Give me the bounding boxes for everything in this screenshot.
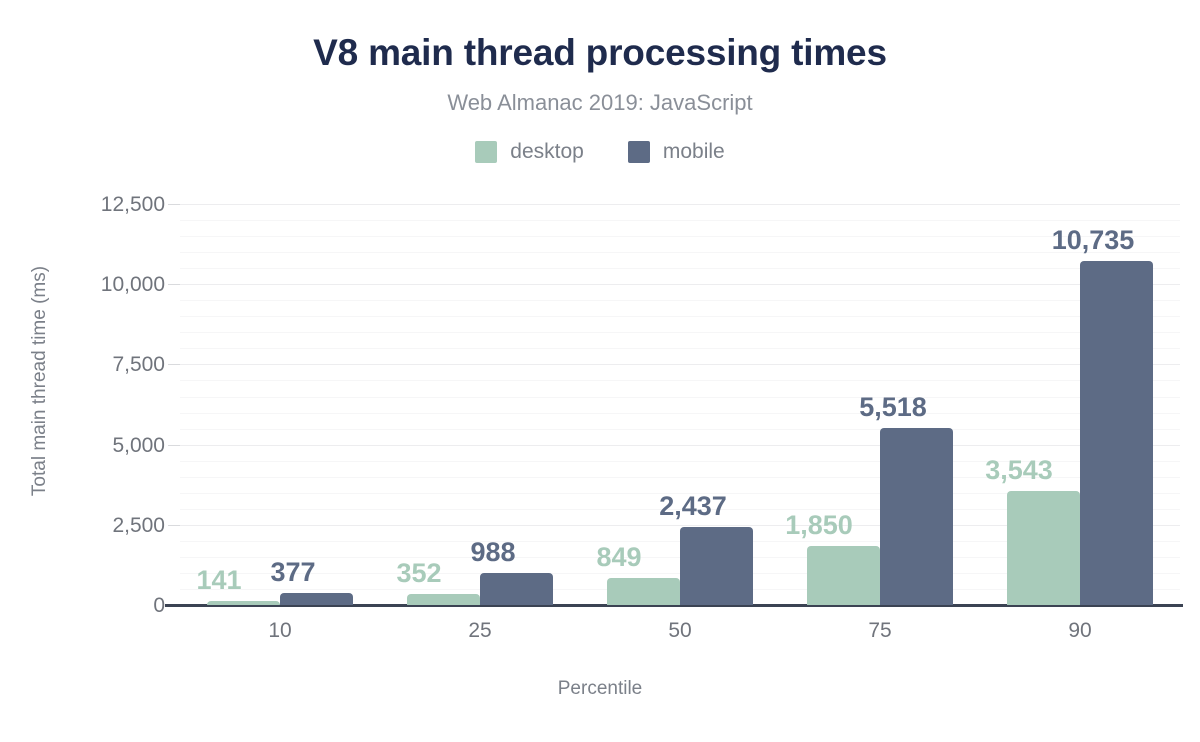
bar-mobile-90[interactable] (1080, 261, 1153, 605)
bar-mobile-75[interactable] (880, 428, 953, 605)
x-tick-label-25: 25 (380, 618, 580, 644)
bar-value-mobile-10: 377 (233, 557, 353, 587)
bar-group-90: 3,54310,735 (980, 204, 1180, 605)
bar-desktop-10[interactable] (207, 601, 280, 606)
bar-mobile-10[interactable] (280, 593, 353, 605)
chart-title: V8 main thread processing times (0, 31, 1200, 75)
y-tick-mark (168, 525, 180, 526)
bar-groups: 1413773529888492,4371,8505,5183,54310,73… (180, 204, 1180, 605)
bar-group-50: 8492,437 (580, 204, 780, 605)
chart-subtitle: Web Almanac 2019: JavaScript (0, 89, 1200, 117)
y-tick-label: 0 (153, 595, 165, 616)
bar-value-mobile-90: 10,735 (1033, 225, 1153, 255)
chart-legend: desktopmobile (0, 140, 1200, 164)
legend-item-mobile[interactable]: mobile (628, 140, 725, 164)
x-tick-label-90: 90 (980, 618, 1180, 644)
y-tick-label: 5,000 (112, 435, 165, 456)
bar-group-25: 352988 (380, 204, 580, 605)
bar-mobile-50[interactable] (680, 527, 753, 605)
y-tick-label: 12,500 (101, 194, 165, 215)
y-axis-title: Total main thread time (ms) (29, 231, 51, 531)
bar-value-mobile-75: 5,518 (833, 392, 953, 422)
legend-item-desktop[interactable]: desktop (475, 140, 584, 164)
bar-value-desktop-75: 1,850 (759, 510, 879, 540)
bar-value-mobile-25: 988 (433, 537, 553, 567)
bar-value-desktop-90: 3,543 (959, 455, 1079, 485)
legend-swatch-desktop (475, 141, 497, 163)
legend-swatch-mobile (628, 141, 650, 163)
x-tick-label-75: 75 (780, 618, 980, 644)
y-tick-label: 2,500 (112, 515, 165, 536)
x-tick-label-50: 50 (580, 618, 780, 644)
chart-container: V8 main thread processing times Web Alma… (0, 0, 1200, 742)
y-tick-label: 10,000 (101, 274, 165, 295)
x-axis-labels: 1025507590 (180, 618, 1180, 644)
bar-mobile-25[interactable] (480, 573, 553, 605)
y-tick-mark (168, 445, 180, 446)
y-tick-mark (168, 284, 180, 285)
bar-desktop-50[interactable] (607, 578, 680, 605)
y-tick-label: 7,500 (112, 354, 165, 375)
bar-desktop-25[interactable] (407, 594, 480, 605)
bar-desktop-75[interactable] (807, 546, 880, 605)
y-tick-mark (168, 364, 180, 365)
x-axis-title: Percentile (0, 677, 1200, 701)
bar-value-desktop-50: 849 (559, 542, 679, 572)
x-tick-label-10: 10 (180, 618, 380, 644)
legend-label-mobile: mobile (663, 140, 725, 164)
bar-value-mobile-50: 2,437 (633, 491, 753, 521)
y-tick-mark (168, 204, 180, 205)
legend-label-desktop: desktop (510, 140, 584, 164)
bar-group-75: 1,8505,518 (780, 204, 980, 605)
bar-group-10: 141377 (180, 204, 380, 605)
bar-desktop-90[interactable] (1007, 491, 1080, 605)
